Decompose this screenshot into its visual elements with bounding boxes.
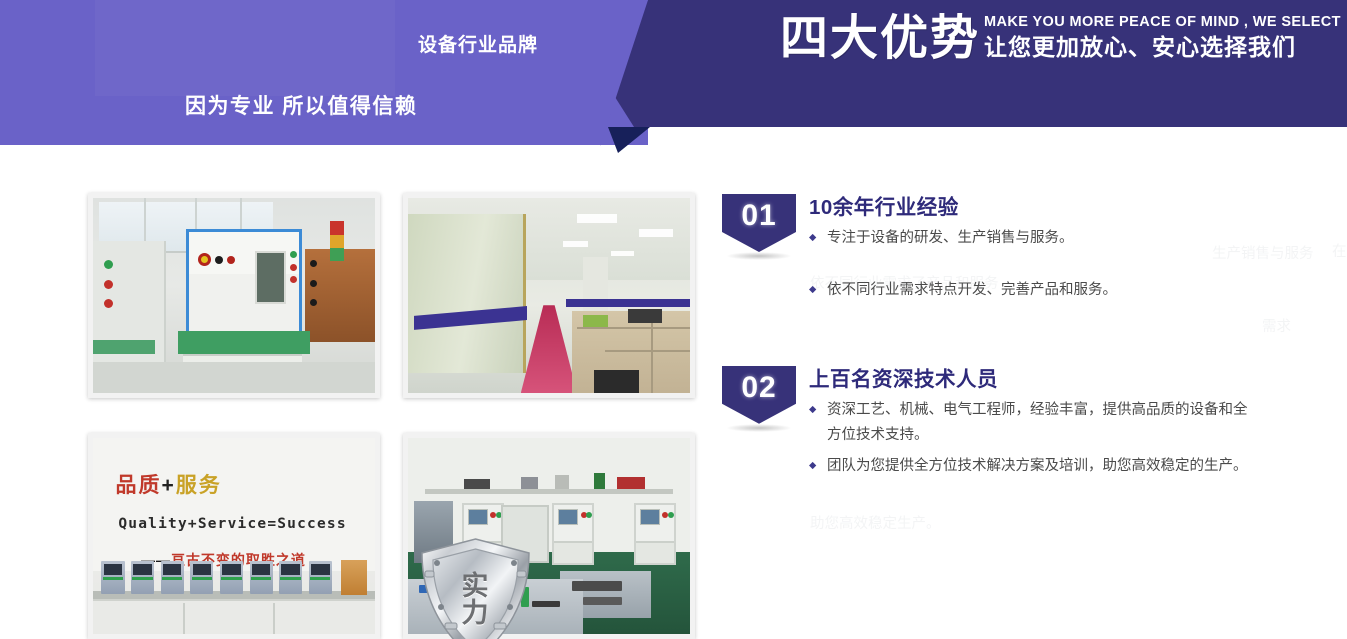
photo-image-quality-service-wall: 品质+服务 Quality+Service=Success ——亘古不变的取胜之… [93,438,375,634]
banner-hero-subtitle: 让您更加放心、安心选择我们 [984,33,1341,62]
shield-strength-badge: 实 力 [419,537,532,639]
gallery-photo-workshop-welding-machine[interactable] [88,193,380,398]
banner-light-band [0,0,648,145]
feature-bullet-01-2: 依不同行业需求特点开发、完善产品和服务。 [809,278,1332,303]
feature-list: 01 10余年行业经验 专注于设备的研发、生产销售与服务。 依不同行业需求特点开… [722,190,1332,501]
feature-body-01: 10余年行业经验 专注于设备的研发、生产销售与服务。 依不同行业需求特点开发、完… [809,190,1332,304]
photo-image-office-corridor [408,198,690,393]
feature-item-02: 02 上百名资深技术人员 资深工艺、机械、电气工程师，经验丰富，提供高品质的设备… [722,362,1332,479]
feature-badge-number-02: 02 [741,373,776,403]
feature-bullet-02-1-cont: 方位技术支持。 [809,423,1332,448]
feature-badge-shadow-02 [726,424,792,432]
ghost-text-4: 需求 [1262,315,1291,336]
feature-title-01: 10余年行业经验 [809,190,1332,220]
page-header-banner: 设备行业品牌 因为专业 所以值得信赖 四大优势 MAKE YOU MORE PE… [0,0,1347,155]
gallery-photo-office-corridor[interactable] [403,193,695,398]
banner-hero-title: 四大优势 [780,15,980,63]
ghost-text-5: 助您高效稳定生产。 [810,512,941,533]
feature-badge-01: 01 [722,194,796,252]
wall-slogan-cn: 品质+服务 [116,469,222,499]
banner-brand-slogan: 因为专业 所以值得信赖 [185,90,417,120]
photo-gallery: 品质+服务 Quality+Service=Success ——亘古不变的取胜之… [88,193,698,639]
banner-hero: 四大优势 MAKE YOU MORE PEACE OF MIND , WE SE… [780,14,1341,63]
feature-bullet-02-1: 资深工艺、机械、电气工程师，经验丰富，提供高品质的设备和全 [809,398,1332,423]
gallery-photo-quality-service-wall[interactable]: 品质+服务 Quality+Service=Success ——亘古不变的取胜之… [88,433,380,639]
ghost-text-2: 在为专业与服务的 [1332,240,1347,261]
wall-slogan-en: Quality+Service=Success [118,516,346,532]
feature-body-02: 上百名资深技术人员 资深工艺、机械、电气工程师，经验丰富，提供高品质的设备和全 … [809,362,1332,479]
banner-brand-tag: 设备行业品牌 [418,30,538,57]
feature-bullet-01-1: 专注于设备的研发、生产销售与服务。 [809,226,1332,251]
banner-hero-texts: MAKE YOU MORE PEACE OF MIND , WE SELECT … [984,14,1341,61]
feature-title-02: 上百名资深技术人员 [809,362,1332,392]
banner-hero-english: MAKE YOU MORE PEACE OF MIND , WE SELECT [984,14,1341,31]
feature-badge-02: 02 [722,366,796,424]
shield-icon [419,537,532,639]
feature-badge-number-01: 01 [741,201,776,231]
banner-sheen [95,0,395,96]
feature-item-01: 01 10余年行业经验 专注于设备的研发、生产销售与服务。 依不同行业需求特点开… [722,190,1332,304]
photo-image-workshop-welding-machine [93,198,375,393]
page-root: 设备行业品牌 因为专业 所以值得信赖 四大优势 MAKE YOU MORE PE… [0,0,1347,639]
feature-badge-shadow-01 [726,252,792,260]
feature-bullet-02-2: 团队为您提供全方位技术解决方案及培训，助您高效稳定的生产。 [809,454,1332,479]
